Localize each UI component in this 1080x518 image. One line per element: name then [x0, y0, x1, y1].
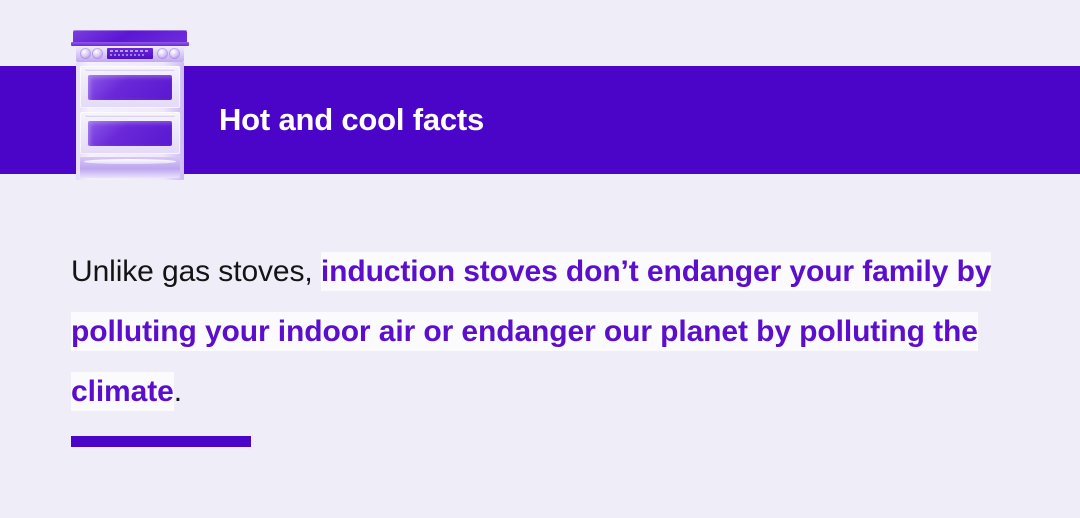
- stove-upper-oven-door-icon: [80, 66, 180, 108]
- stove-control-panel-icon: [76, 46, 184, 62]
- page-title: Hot and cool facts: [219, 66, 484, 174]
- stove-oven-handle-icon: [85, 114, 175, 117]
- fact-statement-lead: Unlike gas stoves,: [71, 255, 321, 288]
- stove-display-icon: [107, 48, 153, 59]
- stove-knob-icon: [158, 49, 167, 58]
- stove-lower-oven-door-icon: [80, 112, 180, 154]
- infographic-card: Hot and cool facts Unlike gas stoves, in…: [0, 0, 1080, 518]
- stove-oven-window-icon: [88, 75, 172, 100]
- stove-knob-icon: [170, 49, 179, 58]
- fact-statement: Unlike gas stoves, induction stoves don’…: [71, 242, 1031, 422]
- stove-oven-handle-icon: [85, 68, 175, 71]
- accent-rule: [71, 436, 251, 447]
- stove-body-icon: [76, 62, 184, 180]
- stove-knob-icon: [81, 49, 90, 58]
- stove-warming-drawer-icon: [80, 157, 180, 178]
- stove-oven-window-icon: [88, 121, 172, 146]
- stove-icon: [71, 30, 189, 180]
- fact-statement-tail: .: [174, 375, 182, 408]
- stove-knob-icon: [93, 49, 102, 58]
